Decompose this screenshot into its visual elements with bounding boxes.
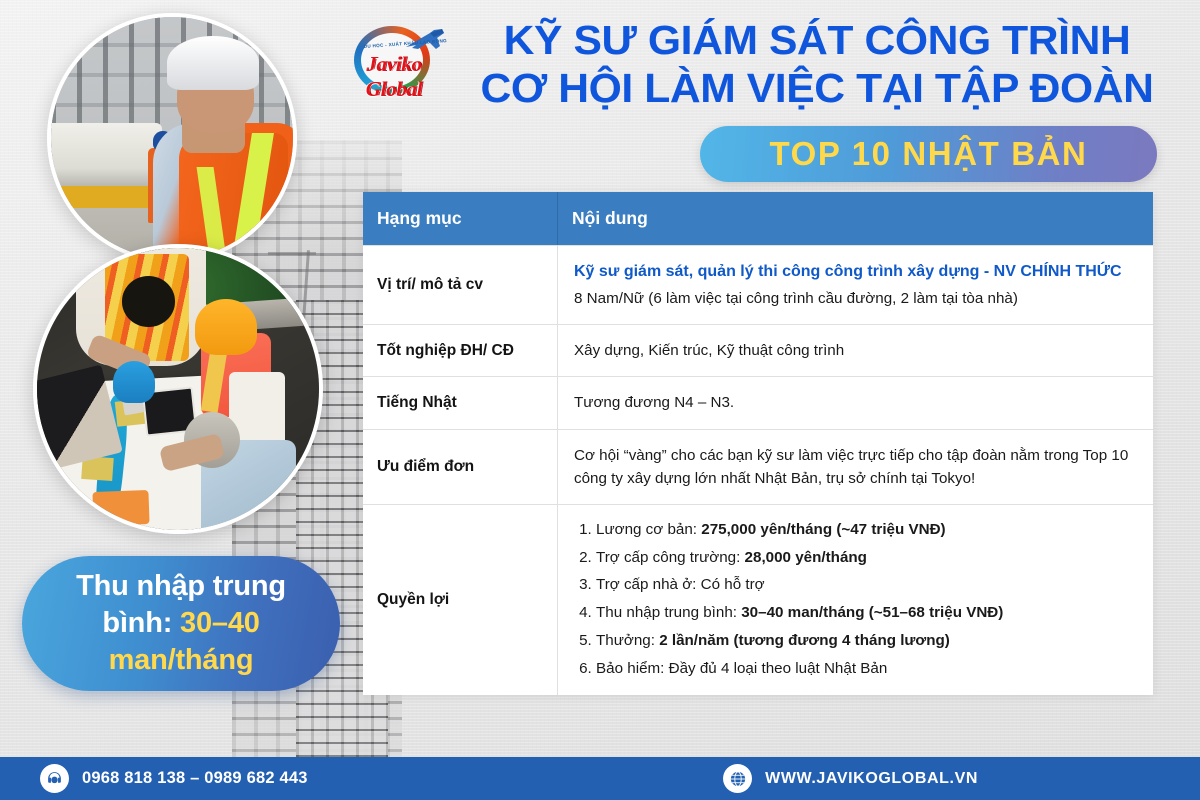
poster-title: KỸ SƯ GIÁM SÁT CÔNG TRÌNH CƠ HỘI LÀM VIỆ… bbox=[452, 16, 1182, 112]
income-line-2: bình: 30–40 bbox=[102, 605, 259, 642]
top10-badge-label: TOP 10 NHẬT BẢN bbox=[769, 135, 1087, 173]
income-amount: 30–40 bbox=[180, 607, 260, 639]
row-label-benefits: Quyền lợi bbox=[363, 505, 558, 695]
benefit-lead-4: Thu nhập trung bình: bbox=[596, 604, 741, 621]
row-content-position: Kỹ sư giám sát, quản lý thi công công tr… bbox=[558, 246, 1153, 325]
title-line-2: CƠ HỘI LÀM VIỆC TẠI TẬP ĐOÀN bbox=[437, 64, 1196, 112]
row-label-education: Tốt nghiệp ĐH/ CĐ bbox=[363, 325, 558, 376]
contact-footer: 0968 818 138 – 0989 682 443 WWW.JAVIKOGL… bbox=[0, 757, 1200, 800]
list-item: Trợ cấp nhà ở: Có hỗ trợ bbox=[596, 574, 1137, 597]
list-item: Lương cơ bản: 275,000 yên/tháng (~47 tri… bbox=[596, 519, 1137, 542]
javiko-global-logo: DU HỌC - XUẤT KHẨU LAO ĐỘNG Javiko Globa… bbox=[340, 20, 448, 104]
row-label-position: Vị trí/ mô tả cv bbox=[363, 246, 558, 325]
row-content-advantage: Cơ hội “vàng” cho các bạn kỹ sư làm việc… bbox=[558, 430, 1153, 504]
table-header-row: Hạng mục Nội dung bbox=[363, 192, 1153, 246]
row-content-benefits: Lương cơ bản: 275,000 yên/tháng (~47 tri… bbox=[558, 505, 1153, 695]
income-unit: man/tháng bbox=[109, 642, 254, 679]
list-item: Bảo hiểm: Đầy đủ 4 loại theo luật Nhật B… bbox=[596, 658, 1137, 681]
top10-badge: TOP 10 NHẬT BẢN bbox=[700, 126, 1157, 182]
benefit-lead-1: Lương cơ bản: bbox=[596, 521, 701, 538]
benefit-lead-3: Trợ cấp nhà ở: Có hỗ trợ bbox=[596, 576, 765, 593]
benefit-lead-6: Bảo hiểm: Đầy đủ 4 loại theo luật Nhật B… bbox=[596, 660, 887, 677]
table-row: Ưu điểm đơn Cơ hội “vàng” cho các bạn kỹ… bbox=[363, 430, 1153, 505]
position-highlight: Kỹ sư giám sát, quản lý thi công công tr… bbox=[574, 260, 1137, 284]
benefit-value-5: 2 lần/năm (tương đương 4 tháng lương) bbox=[659, 632, 950, 649]
list-item: Thu nhập trung bình: 30–40 man/tháng (~5… bbox=[596, 602, 1137, 625]
table-row: Quyền lợi Lương cơ bản: 275,000 yên/thán… bbox=[363, 505, 1153, 695]
benefits-list: Lương cơ bản: 275,000 yên/tháng (~47 tri… bbox=[574, 519, 1137, 681]
benefit-value-2: 28,000 yên/tháng bbox=[745, 549, 867, 566]
income-line-1: Thu nhập trung bbox=[76, 568, 286, 605]
title-line-1: KỸ SƯ GIÁM SÁT CÔNG TRÌNH bbox=[437, 16, 1196, 64]
column-header-category: Hạng mục bbox=[363, 192, 558, 245]
table-row: Tốt nghiệp ĐH/ CĐ Xây dựng, Kiến trúc, K… bbox=[363, 325, 1153, 377]
job-details-table: Hạng mục Nội dung Vị trí/ mô tả cv Kỹ sư… bbox=[363, 192, 1153, 695]
engineers-reviewing-plans-photo bbox=[33, 244, 323, 534]
income-label: bình: bbox=[102, 607, 180, 639]
list-item: Thưởng: 2 lần/năm (tương đương 4 tháng l… bbox=[596, 630, 1137, 653]
construction-site-photo bbox=[47, 13, 297, 263]
benefit-value-4: 30–40 man/tháng (~51–68 triệu VNĐ) bbox=[741, 604, 1003, 621]
globe-icon bbox=[723, 764, 752, 793]
footer-phone-text: 0968 818 138 – 0989 682 443 bbox=[82, 769, 308, 788]
average-income-badge: Thu nhập trung bình: 30–40 man/tháng bbox=[22, 556, 340, 691]
phone-icon bbox=[40, 764, 69, 793]
table-row: Vị trí/ mô tả cv Kỹ sư giám sát, quản lý… bbox=[363, 246, 1153, 326]
benefit-value-1: 275,000 yên/tháng (~47 triệu VNĐ) bbox=[701, 521, 945, 538]
column-header-content: Nội dung bbox=[558, 192, 1153, 245]
footer-phone-group[interactable]: 0968 818 138 – 0989 682 443 bbox=[40, 764, 308, 793]
benefit-lead-5: Thưởng: bbox=[596, 632, 659, 649]
row-label-advantage: Ưu điểm đơn bbox=[363, 430, 558, 504]
footer-website-group[interactable]: WWW.JAVIKOGLOBAL.VN bbox=[723, 764, 978, 793]
row-content-education: Xây dựng, Kiến trúc, Kỹ thuật công trình bbox=[558, 325, 1153, 376]
benefit-lead-2: Trợ cấp công trường: bbox=[596, 549, 745, 566]
table-row: Tiếng Nhật Tương đương N4 – N3. bbox=[363, 377, 1153, 429]
row-content-japanese: Tương đương N4 – N3. bbox=[558, 377, 1153, 428]
position-detail: 8 Nam/Nữ (6 làm việc tại công trình cầu … bbox=[574, 287, 1137, 310]
row-label-japanese: Tiếng Nhật bbox=[363, 377, 558, 428]
list-item: Trợ cấp công trường: 28,000 yên/tháng bbox=[596, 547, 1137, 570]
footer-website-text: WWW.JAVIKOGLOBAL.VN bbox=[765, 770, 978, 788]
logo-wordmark: Javiko Global bbox=[340, 52, 448, 102]
